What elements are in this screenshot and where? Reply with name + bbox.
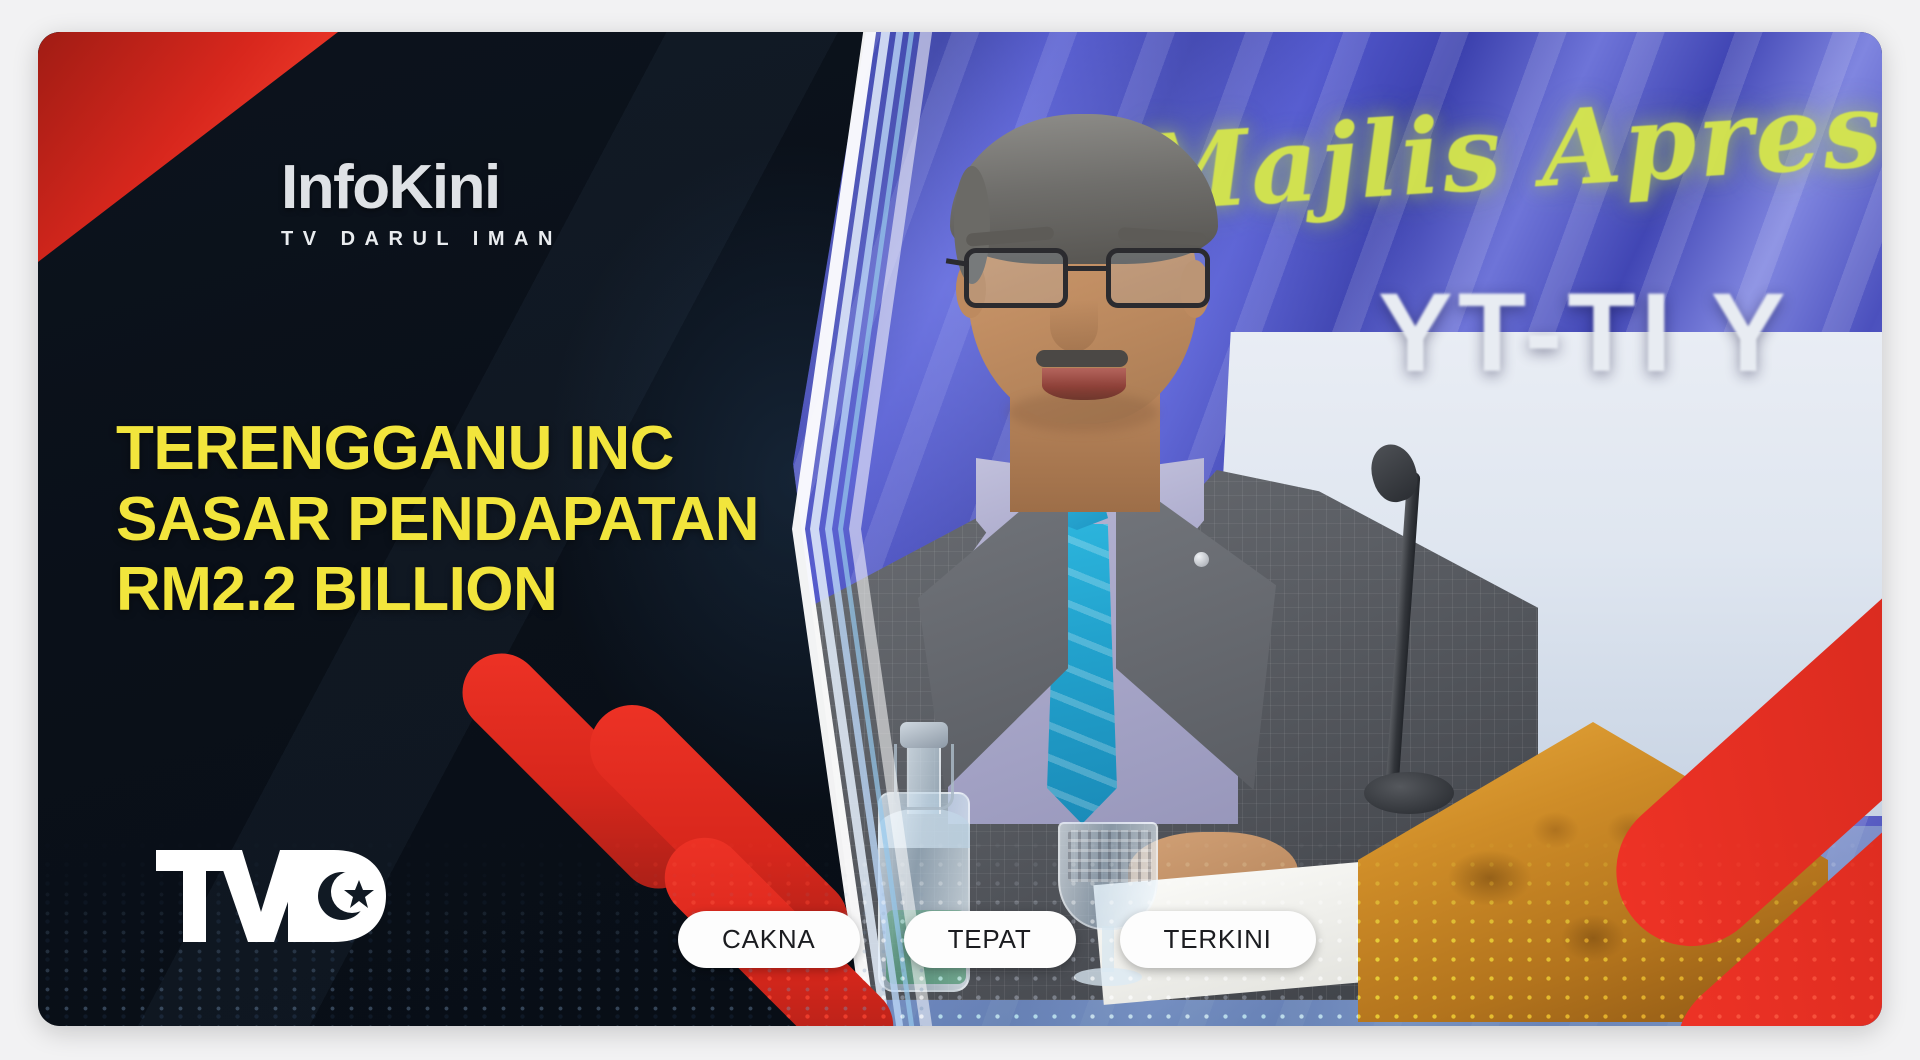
glass-facets — [1068, 830, 1152, 882]
brand-logo: InfoKini TV DARUL IMAN — [281, 157, 562, 251]
station-logo — [156, 850, 386, 942]
glass-foot — [1074, 968, 1142, 986]
tagline-pill-cakna[interactable]: CAKNA — [678, 911, 860, 968]
lens-right — [1106, 248, 1210, 308]
tagline-pill-tepat[interactable]: TEPAT — [904, 911, 1076, 968]
headline-line-3: RM2.2 BILLION — [116, 555, 816, 626]
news-card: Majlis Apres YT-TI Y — [38, 32, 1882, 1026]
lapel-pin — [1194, 552, 1209, 567]
page-canvas: Majlis Apres YT-TI Y — [0, 0, 1920, 1060]
headline-line-1: TERENGGANU INC — [116, 414, 816, 485]
tvd-logo-icon — [156, 850, 386, 942]
tagline-pill-group: CAKNA TEPAT TERKINI — [678, 911, 1316, 968]
page-title: TERENGGANU INC SASAR PENDAPATAN RM2.2 BI… — [116, 414, 816, 626]
brand-subtitle: TV DARUL IMAN — [281, 228, 562, 251]
headline-line-2: SASAR PENDAPATAN — [116, 485, 816, 556]
tagline-pill-terkini[interactable]: TERKINI — [1120, 911, 1316, 968]
brand-title: InfoKini — [281, 157, 562, 219]
